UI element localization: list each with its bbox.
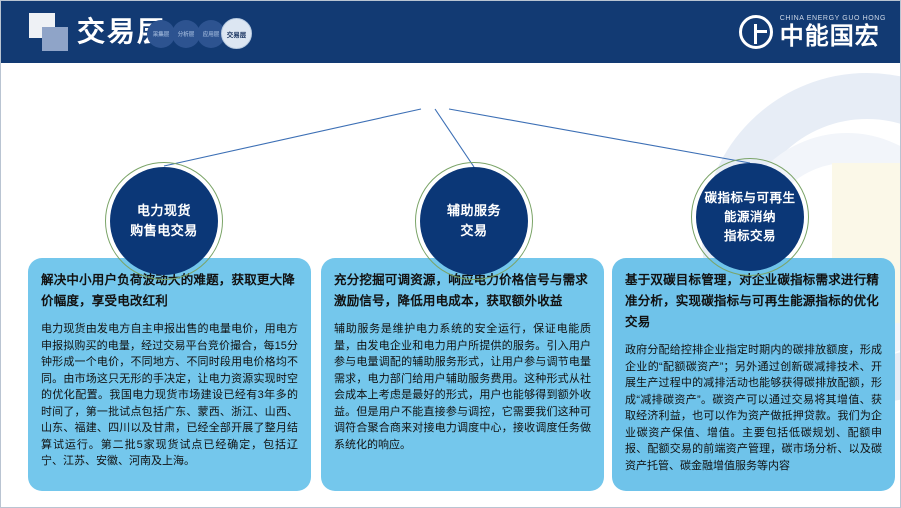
brand-logo: CHINA ENERGY GUO HONG 中能国宏 — [739, 11, 886, 53]
node-spot-power-trading[interactable]: 电力现货 购售电交易 — [105, 162, 223, 280]
slide-canvas: 交易层 采集层 分析层 应用层 交易层 CHINA ENERGY GUO HON… — [0, 0, 901, 508]
node-label-line2: 购售电交易 — [130, 221, 198, 241]
two-squares-icon — [29, 13, 71, 53]
node-label-line2: 能源消纳 — [704, 208, 795, 227]
node-label-line1: 碳指标与可再生 — [704, 189, 795, 208]
slide-body: 电力现货 购售电交易 辅助服务 交易 碳指标与可再生 能源消纳 — [1, 63, 901, 508]
card-heading: 基于双碳目标管理，对企业碳指标需求进行精准分析，实现碳指标与可再生能源指标的优化… — [625, 270, 882, 333]
card-carbon-renewable-index-trading: 基于双碳目标管理，对企业碳指标需求进行精准分析，实现碳指标与可再生能源指标的优化… — [612, 258, 895, 491]
card-spot-power-trading: 解决中小用户负荷波动大的难题，获取更大降价幅度，享受电改红利 电力现货由发电方自… — [28, 258, 311, 491]
brand-chinese-name: 中能国宏 — [780, 25, 886, 49]
node-label-line2: 交易 — [447, 221, 501, 241]
pill-transaction-layer-active[interactable]: 交易层 — [221, 18, 252, 49]
node-label: 辅助服务 交易 — [401, 162, 547, 280]
node-carbon-renewable-index-trading[interactable]: 碳指标与可再生 能源消纳 指标交易 — [691, 158, 809, 276]
slide-header: 交易层 采集层 分析层 应用层 交易层 CHINA ENERGY GUO HON… — [1, 1, 901, 63]
node-label: 碳指标与可再生 能源消纳 指标交易 — [677, 158, 823, 276]
node-label-line1: 辅助服务 — [447, 201, 501, 221]
pill-collection-layer[interactable]: 采集层 — [147, 20, 175, 48]
pill-analysis-layer[interactable]: 分析层 — [172, 20, 200, 48]
node-label: 电力现货 购售电交易 — [91, 162, 237, 280]
card-ancillary-services-trading: 充分挖掘可调资源，响应电力价格信号与需求激励信号，降低用电成本，获取额外收益 辅… — [321, 258, 604, 491]
guohong-circle-logo-icon — [739, 15, 773, 49]
card-body-text: 政府分配给控排企业指定时期内的碳排放额度，形成企业的“配额碳资产”；另外通过创新… — [625, 342, 882, 474]
node-label-line3: 指标交易 — [704, 227, 795, 246]
card-body-text: 辅助服务是维护电力系统的安全运行，保证电能质量，由发电企业和电力用户所提供的服务… — [334, 321, 591, 453]
node-ancillary-services-trading[interactable]: 辅助服务 交易 — [415, 162, 533, 280]
brand-english-name: CHINA ENERGY GUO HONG — [780, 15, 886, 22]
card-body-text: 电力现货由发电方自主申报出售的电量电价，用电方申报拟购买的电量，经过交易平台竞价… — [41, 321, 298, 470]
node-label-line1: 电力现货 — [130, 201, 198, 221]
